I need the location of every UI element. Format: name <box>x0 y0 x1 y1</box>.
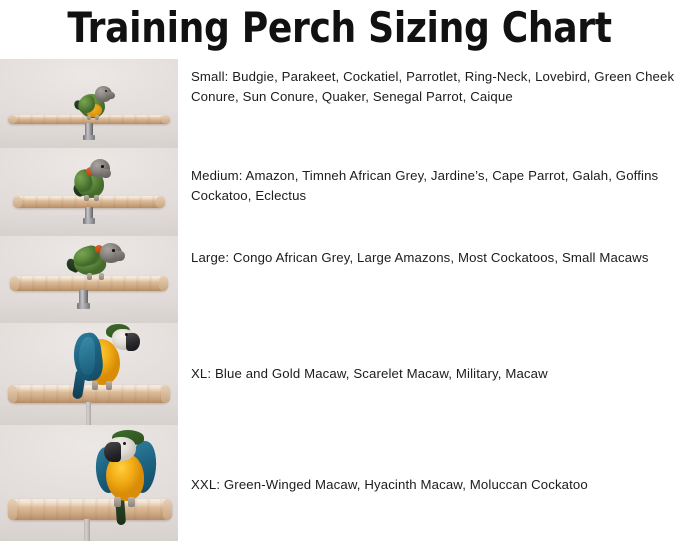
bird-african-grey-green <box>66 240 136 282</box>
photo-xxl-perch <box>0 425 178 541</box>
perch-end-left <box>8 385 17 403</box>
bird-eye <box>112 249 115 252</box>
caption-medium: Medium: Amazon, Timneh African Grey, Jar… <box>191 166 675 206</box>
bird-foot <box>84 195 89 201</box>
bird-beak <box>104 442 121 462</box>
caption-small: Small: Budgie, Parakeet, Cockatiel, Parr… <box>191 67 675 107</box>
bird-foot <box>128 497 135 507</box>
photo-small-perch <box>0 59 178 148</box>
perch-end-right <box>159 276 168 291</box>
bird-foot <box>87 273 92 280</box>
bird-foot <box>94 195 99 201</box>
size-row-medium: Medium: Amazon, Timneh African Grey, Jar… <box>0 148 679 236</box>
perch-end-right <box>156 196 165 208</box>
size-row-xl: XL: Blue and Gold Macaw, Scarelet Macaw,… <box>0 323 679 425</box>
perch-bolt <box>79 290 88 304</box>
photo-xl-perch <box>0 323 178 425</box>
photo-large-perch <box>0 236 178 323</box>
perch-end-left <box>10 276 19 291</box>
perch-end-left <box>13 196 22 208</box>
perch-bolt-nut <box>77 303 90 309</box>
caption-xxl: XXL: Green-Winged Macaw, Hyacinth Macaw,… <box>191 475 675 495</box>
perch-end-left <box>8 499 17 520</box>
bird-beak <box>116 251 125 261</box>
perch-post <box>84 519 90 541</box>
size-row-xxl: XXL: Green-Winged Macaw, Hyacinth Macaw,… <box>0 425 679 541</box>
photo-medium-perch <box>0 148 178 236</box>
size-rows: Small: Budgie, Parakeet, Cockatiel, Parr… <box>0 59 679 541</box>
page-title: Training Perch Sizing Chart <box>48 0 632 56</box>
bird-cape-parrot <box>70 158 116 200</box>
bird-blue-and-gold-macaw <box>94 429 172 509</box>
bird-foot <box>99 273 104 280</box>
bird-foot <box>87 115 91 120</box>
bird-beak <box>126 333 140 351</box>
bird-blue-and-gold-macaw <box>70 323 152 391</box>
bird-foot <box>114 497 121 507</box>
size-row-small: Small: Budgie, Parakeet, Cockatiel, Parr… <box>0 59 679 148</box>
perch-post <box>86 402 91 425</box>
caption-large: Large: Congo African Grey, Large Amazons… <box>191 248 675 268</box>
caption-xl: XL: Blue and Gold Macaw, Scarelet Macaw,… <box>191 364 675 384</box>
sizing-chart-page: Training Perch Sizing Chart <box>0 0 679 542</box>
size-row-large: Large: Congo African Grey, Large Amazons… <box>0 236 679 323</box>
perch-end-right <box>161 385 170 403</box>
perch-end-right <box>161 115 170 124</box>
bird-foot <box>95 115 99 120</box>
perch-end-left <box>8 115 17 124</box>
bird-senegal-parrot <box>74 85 118 119</box>
bird-foot <box>106 381 112 390</box>
bird-foot <box>92 381 98 390</box>
bird-beak <box>108 92 115 99</box>
perch-bolt-nut <box>83 218 95 224</box>
bird-eye <box>101 165 104 168</box>
bird-wing-highlight <box>79 337 95 375</box>
bird-beak <box>103 169 111 178</box>
perch-bolt-nut <box>83 135 95 140</box>
